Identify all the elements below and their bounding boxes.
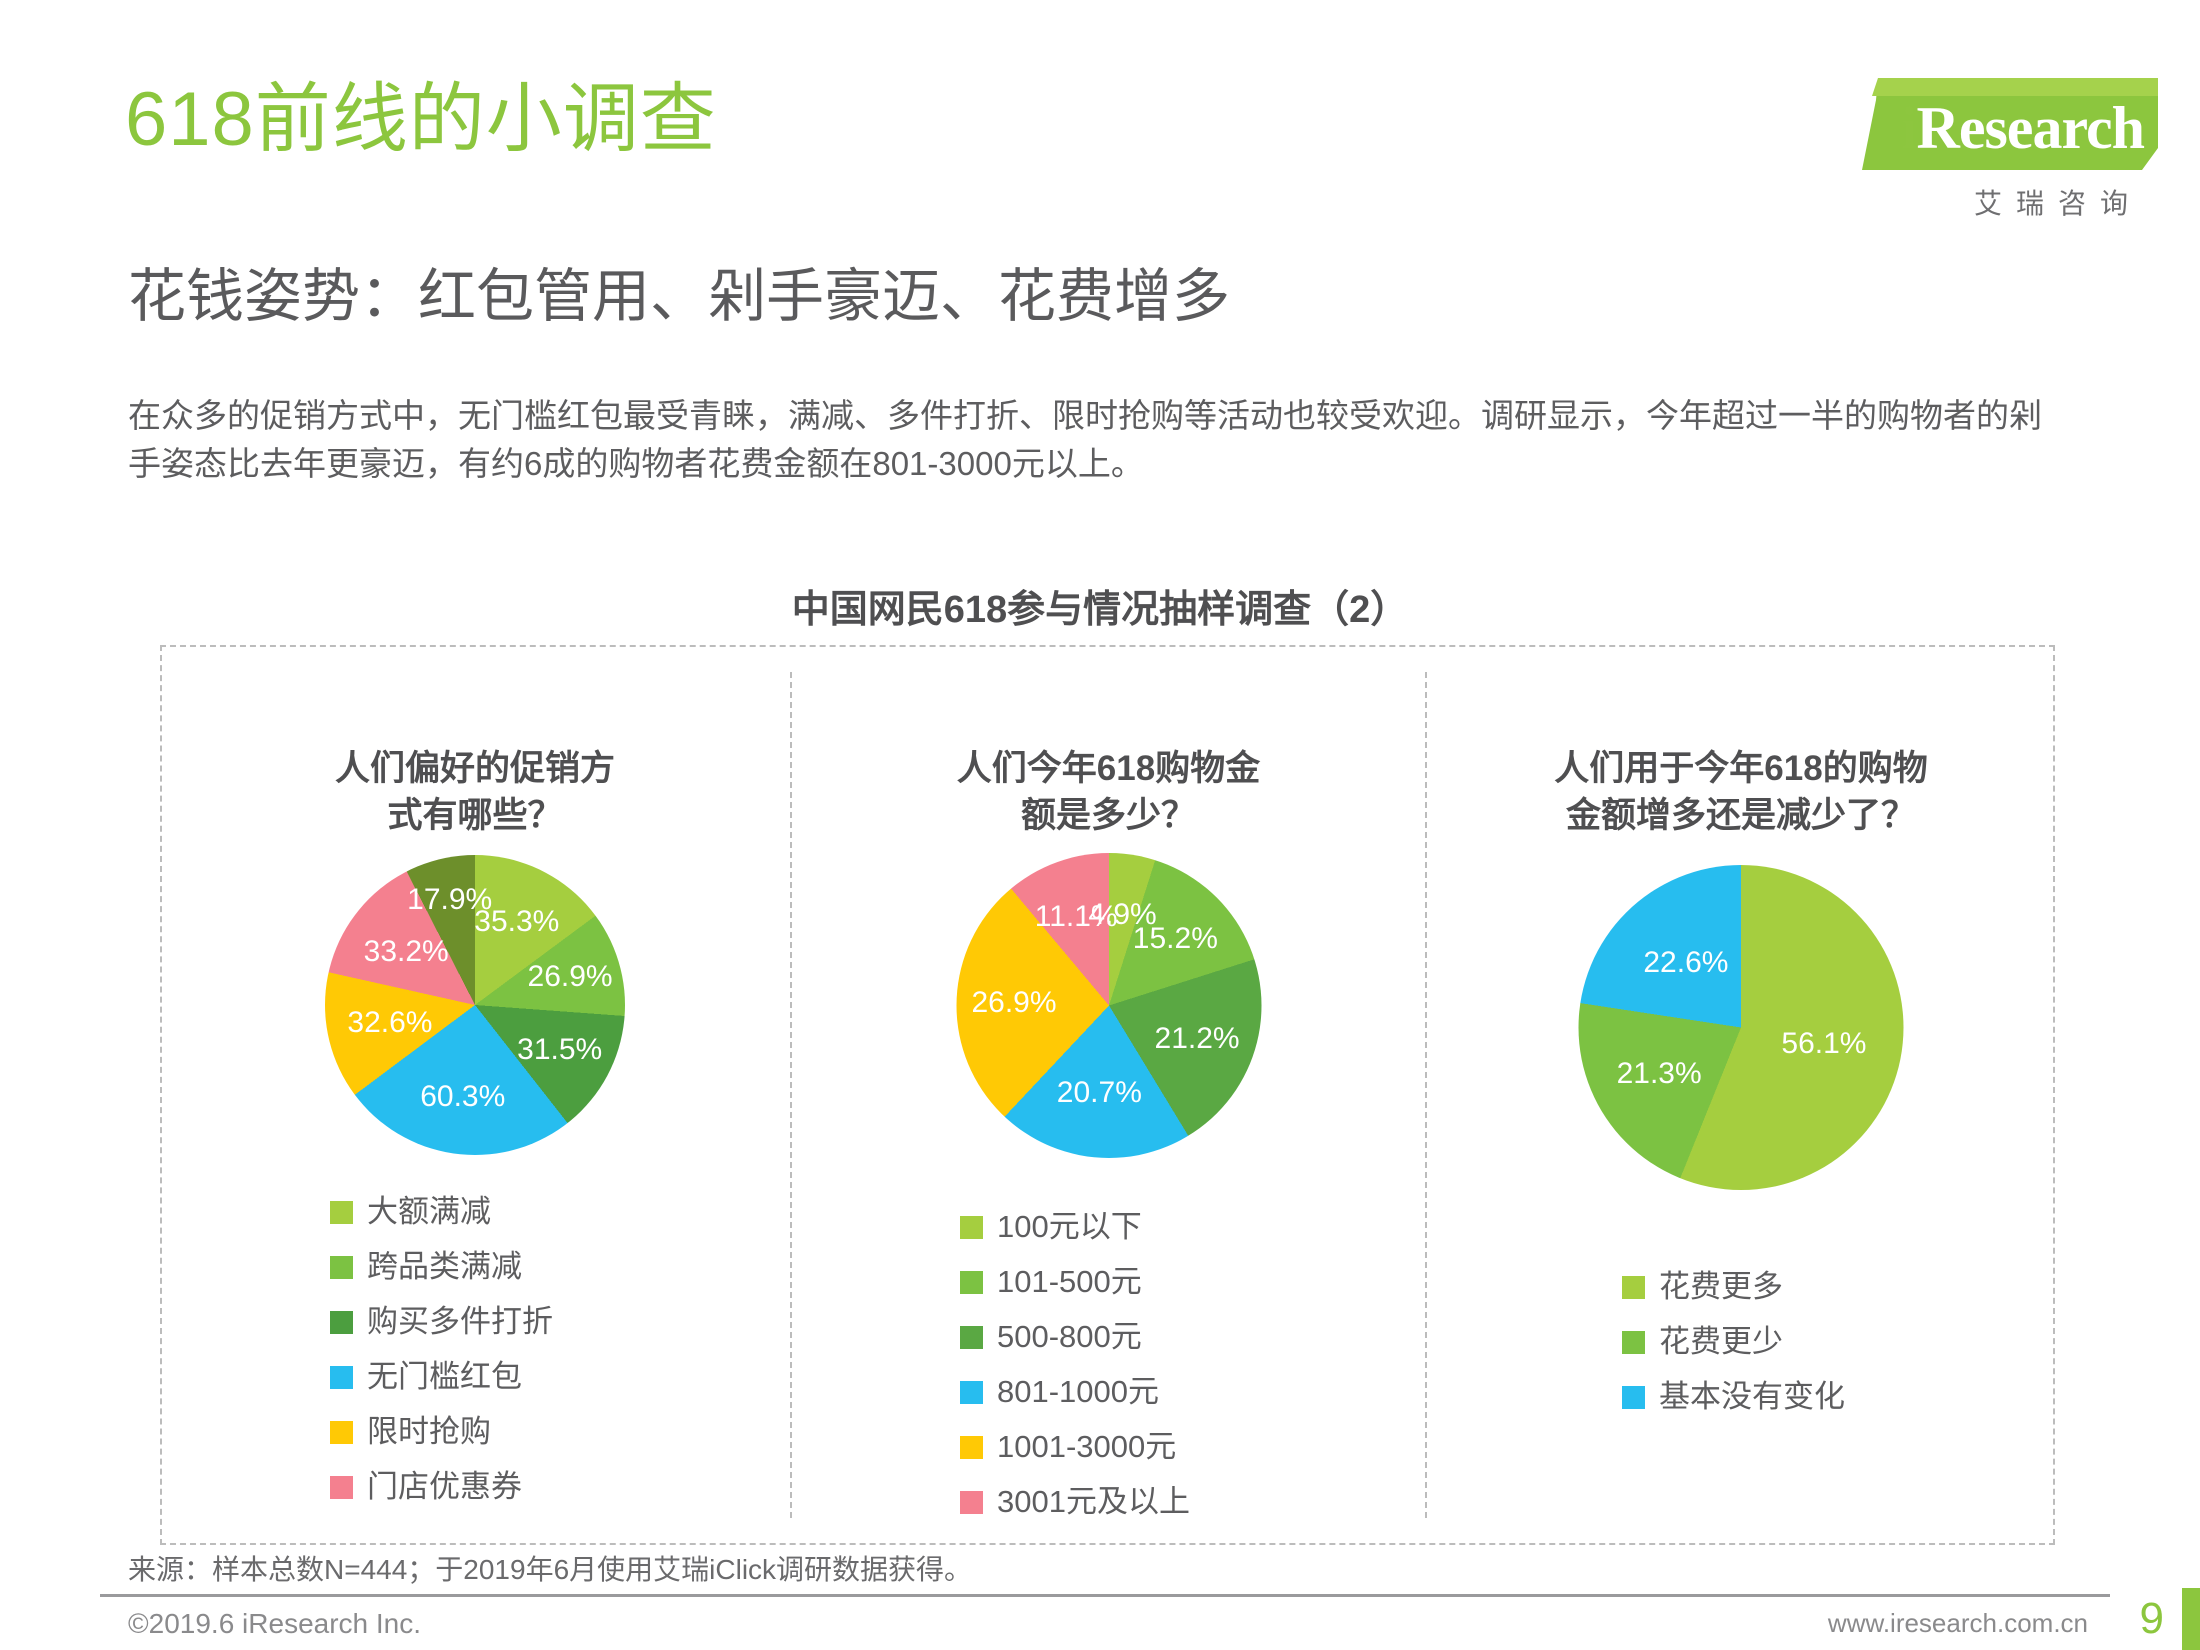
pie-slice-label: 33.2% <box>364 935 449 969</box>
pie-slice-label: 56.1% <box>1781 1027 1866 1061</box>
pie-chart-2: 4.9%15.2%21.2%20.7%26.9%11.1% <box>956 853 1261 1158</box>
legend-swatch-icon <box>960 1491 983 1514</box>
slide-root: iResearch 艾瑞咨询 618前线的小调查 花钱姿势：红包管用、剁手豪迈、… <box>0 0 2200 1650</box>
legend-swatch-icon <box>330 1366 353 1389</box>
pie-slice-label: 21.2% <box>1155 1022 1240 1056</box>
panel-promotions: 人们偏好的促销方式有哪些？ 35.3%26.9%31.5%60.3%32.6%3… <box>160 645 790 1545</box>
legend-swatch-icon <box>330 1256 353 1279</box>
pie-slice-label: 20.7% <box>1057 1076 1142 1110</box>
chart-title: 中国网民618参与情况抽样调查（2） <box>0 578 2200 633</box>
legend-swatch-icon <box>960 1271 983 1294</box>
pie-slice-label: 22.6% <box>1643 946 1728 980</box>
pie-2-disc: 4.9%15.2%21.2%20.7%26.9%11.1% <box>956 853 1261 1158</box>
logo-i: i <box>1901 95 1917 161</box>
legend-item[interactable]: 限时抢购 <box>330 1410 553 1454</box>
legend-item[interactable]: 1001-3000元 <box>960 1425 1190 1469</box>
page-number: 9 <box>2140 1594 2164 1644</box>
footer-divider <box>100 1594 2110 1597</box>
legend-label: 无门槛红包 <box>367 1355 522 1399</box>
legend-label: 101-500元 <box>997 1260 1142 1304</box>
legend-item[interactable]: 门店优惠券 <box>330 1465 553 1509</box>
pie-slice-label: 26.9% <box>971 986 1056 1020</box>
legend-item[interactable]: 跨品类满减 <box>330 1245 553 1289</box>
logo-research: Research <box>1917 95 2145 161</box>
page-title: 618前线的小调查 <box>125 82 717 158</box>
page-subtitle: 花钱姿势：红包管用、剁手豪迈、花费增多 <box>128 268 1230 326</box>
page-accent-tab <box>2182 1588 2200 1650</box>
pie-slice-label: 26.9% <box>528 960 613 994</box>
legend-label: 限时抢购 <box>367 1410 491 1454</box>
legend-item[interactable]: 购买多件打折 <box>330 1300 553 1344</box>
legend-swatch-icon <box>330 1421 353 1444</box>
legend-swatch-icon <box>960 1216 983 1239</box>
copyright-text: ©2019.6 iResearch Inc. <box>128 1608 421 1640</box>
legend-label: 500-800元 <box>997 1315 1142 1359</box>
legend-label: 801-1000元 <box>997 1370 1159 1414</box>
legend-label: 3001元及以上 <box>997 1480 1190 1524</box>
legend-label: 100元以下 <box>997 1205 1142 1249</box>
legend-item[interactable]: 大额满减 <box>330 1190 553 1234</box>
pie-slice-label: 17.9% <box>407 883 492 917</box>
legend-label: 门店优惠券 <box>367 1465 522 1509</box>
legend-swatch-icon <box>960 1436 983 1459</box>
panel-1-heading: 人们偏好的促销方式有哪些？ <box>160 745 790 840</box>
pie-slice-label: 15.2% <box>1133 922 1218 956</box>
legend-swatch-icon <box>1622 1386 1645 1409</box>
pie-chart-1: 35.3%26.9%31.5%60.3%32.6%33.2%17.9% <box>325 855 625 1155</box>
logo-chinese-name: 艾瑞咨询 <box>1974 182 2142 222</box>
legend-item[interactable]: 101-500元 <box>960 1260 1190 1304</box>
panel-amount: 人们今年618购物金额是多少？ 4.9%15.2%21.2%20.7%26.9%… <box>792 645 1425 1545</box>
pie-3-disc: 56.1%21.3%22.6% <box>1579 865 1904 1190</box>
pie-slice-label: 21.3% <box>1617 1057 1702 1091</box>
legend-label: 跨品类满减 <box>367 1245 522 1289</box>
source-note: 来源：样本总数N=444；于2019年6月使用艾瑞iClick调研数据获得。 <box>128 1548 972 1588</box>
legend-item[interactable]: 无门槛红包 <box>330 1355 553 1399</box>
legend-swatch-icon <box>960 1381 983 1404</box>
legend-item[interactable]: 基本没有变化 <box>1622 1375 1845 1419</box>
legend-panel-2: 100元以下101-500元500-800元801-1000元1001-3000… <box>960 1205 1190 1535</box>
legend-item[interactable]: 花费更少 <box>1622 1320 1845 1364</box>
legend-item[interactable]: 花费更多 <box>1622 1265 1845 1309</box>
legend-swatch-icon <box>960 1326 983 1349</box>
body-paragraph: 在众多的促销方式中，无门槛红包最受青睐，满减、多件打折、限时抢购等活动也较受欢迎… <box>128 392 2058 488</box>
legend-panel-1: 大额满减跨品类满减购买多件打折无门槛红包限时抢购门店优惠券 <box>330 1190 553 1520</box>
pie-1-disc: 35.3%26.9%31.5%60.3%32.6%33.2%17.9% <box>325 855 625 1155</box>
pie-chart-3: 56.1%21.3%22.6% <box>1579 865 1904 1190</box>
panel-change: 人们用于今年618的购物金额增多还是减少了？ 56.1%21.3%22.6% 花… <box>1427 645 2055 1545</box>
iresearch-logo: iResearch 艾瑞咨询 <box>1858 78 2158 218</box>
website-url: www.iresearch.com.cn <box>1828 1608 2088 1639</box>
logo-wordmark: iResearch <box>1901 94 2144 163</box>
legend-swatch-icon <box>330 1476 353 1499</box>
legend-label: 1001-3000元 <box>997 1425 1176 1469</box>
legend-item[interactable]: 100元以下 <box>960 1205 1190 1249</box>
legend-item[interactable]: 500-800元 <box>960 1315 1190 1359</box>
legend-label: 花费更多 <box>1659 1265 1783 1309</box>
pie-slice-label: 32.6% <box>347 1006 432 1040</box>
pie-slice-label: 60.3% <box>420 1080 505 1114</box>
pie-slice-label: 11.1% <box>1035 900 1118 934</box>
legend-swatch-icon <box>330 1311 353 1334</box>
pie-slice-label: 31.5% <box>517 1033 602 1067</box>
legend-label: 基本没有变化 <box>1659 1375 1845 1419</box>
legend-swatch-icon <box>1622 1276 1645 1299</box>
legend-item[interactable]: 3001元及以上 <box>960 1480 1190 1524</box>
legend-panel-3: 花费更多花费更少基本没有变化 <box>1622 1265 1845 1430</box>
panel-3-heading: 人们用于今年618的购物金额增多还是减少了？ <box>1427 745 2055 840</box>
panel-2-heading: 人们今年618购物金额是多少？ <box>792 745 1425 840</box>
legend-label: 购买多件打折 <box>367 1300 553 1344</box>
legend-item[interactable]: 801-1000元 <box>960 1370 1190 1414</box>
legend-label: 花费更少 <box>1659 1320 1783 1364</box>
legend-swatch-icon <box>1622 1331 1645 1354</box>
legend-swatch-icon <box>330 1201 353 1224</box>
legend-label: 大额满减 <box>367 1190 491 1234</box>
